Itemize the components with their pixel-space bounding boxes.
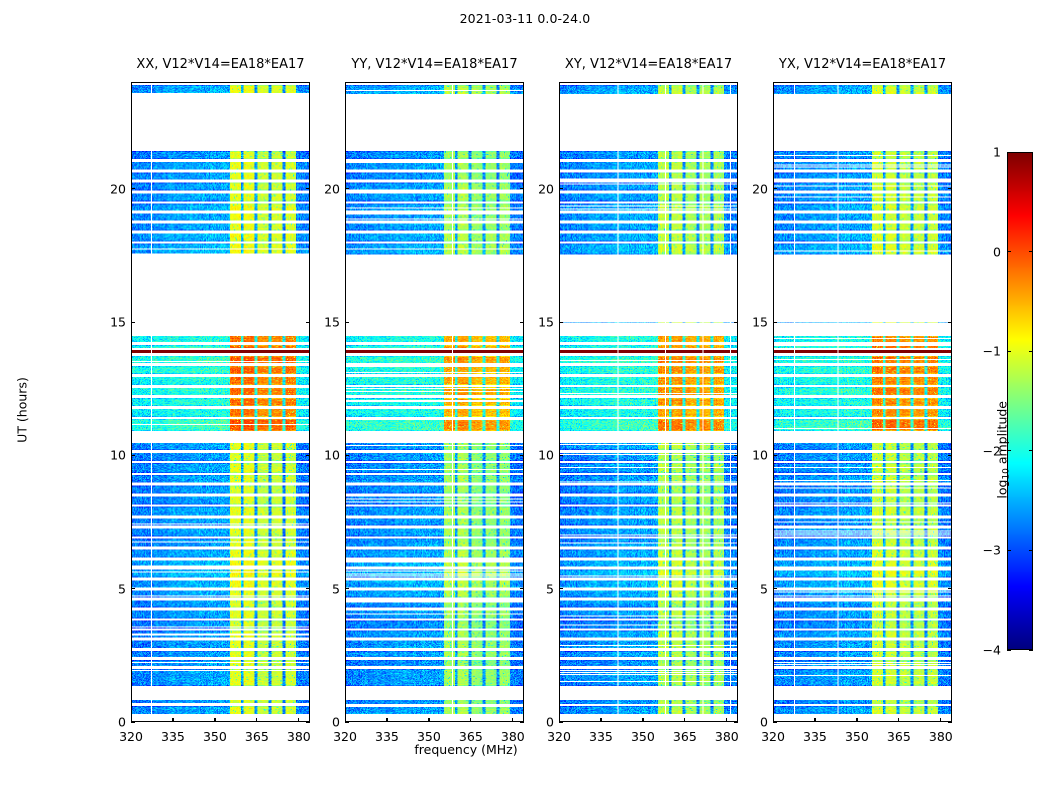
y-tick-mark — [559, 322, 563, 323]
y-tick-mark — [773, 588, 777, 589]
x-tick-label: 380 — [287, 729, 311, 744]
colorbar-tick-mark — [1029, 650, 1033, 651]
y-tick-label: 0 — [332, 715, 340, 730]
y-tick-label: 15 — [752, 315, 768, 330]
colorbar-tick-mark — [1007, 550, 1011, 551]
y-tick-mark — [306, 455, 310, 456]
colorbar-tick-mark — [1029, 351, 1033, 352]
y-tick-label: 0 — [546, 715, 554, 730]
y-tick-mark — [773, 322, 777, 323]
spectrum-panel-xx: XX, V12*V14=EA18*EA170510152032033535036… — [131, 82, 310, 722]
colorbar-tick-mark — [1007, 251, 1011, 252]
x-tick-mark — [256, 718, 257, 722]
colorbar-tick-mark — [1007, 351, 1011, 352]
panel-axes-xy — [559, 82, 738, 722]
y-tick-mark — [948, 322, 952, 323]
y-tick-mark — [131, 588, 135, 589]
x-tick-mark — [428, 718, 429, 722]
x-tick-mark — [559, 718, 560, 722]
x-tick-mark — [726, 718, 727, 722]
x-tick-label: 320 — [761, 729, 785, 744]
x-tick-mark — [470, 718, 471, 722]
y-tick-label: 20 — [110, 181, 126, 196]
panel-title-yx: YX, V12*V14=EA18*EA17 — [779, 57, 946, 72]
x-axis-label: frequency (MHz) — [0, 742, 932, 757]
y-tick-label: 5 — [332, 581, 340, 596]
y-tick-mark — [948, 588, 952, 589]
spectrum-panel-xy: XY, V12*V14=EA18*EA170510152032033535036… — [559, 82, 738, 722]
y-tick-mark — [345, 588, 349, 589]
y-tick-label: 0 — [118, 715, 126, 730]
y-tick-mark — [520, 455, 524, 456]
y-tick-label: 5 — [118, 581, 126, 596]
x-tick-label: 320 — [333, 729, 357, 744]
y-tick-label: 20 — [324, 181, 340, 196]
y-tick-mark — [131, 722, 135, 723]
y-tick-label: 0 — [760, 715, 768, 730]
y-tick-mark — [520, 588, 524, 589]
y-tick-label: 10 — [538, 448, 554, 463]
y-tick-label: 10 — [752, 448, 768, 463]
colorbar-tick-label: 1 — [993, 145, 1001, 160]
y-tick-label: 20 — [752, 181, 768, 196]
x-tick-label: 350 — [845, 729, 869, 744]
panel-axes-xx — [131, 82, 310, 722]
y-tick-label: 15 — [538, 315, 554, 330]
x-tick-mark — [131, 718, 132, 722]
x-tick-mark — [814, 718, 815, 722]
y-tick-mark — [306, 322, 310, 323]
x-tick-label: 380 — [715, 729, 739, 744]
y-tick-mark — [520, 188, 524, 189]
x-tick-label: 335 — [161, 729, 185, 744]
colorbar-tick-label: −3 — [983, 543, 1001, 558]
x-tick-label: 365 — [459, 729, 483, 744]
panel-title-xx: XX, V12*V14=EA18*EA17 — [136, 57, 304, 72]
y-tick-mark — [948, 188, 952, 189]
x-tick-mark — [940, 718, 941, 722]
y-axis-label: UT (hours) — [15, 377, 30, 443]
x-tick-label: 335 — [803, 729, 827, 744]
x-tick-mark — [345, 718, 346, 722]
y-tick-label: 5 — [760, 581, 768, 596]
x-tick-label: 380 — [929, 729, 953, 744]
x-tick-label: 365 — [887, 729, 911, 744]
colorbar-gradient — [1007, 152, 1033, 650]
x-tick-label: 335 — [375, 729, 399, 744]
x-tick-mark — [898, 718, 899, 722]
y-tick-mark — [306, 188, 310, 189]
waterfall-image-xx — [132, 83, 309, 721]
colorbar-tick-mark — [1029, 450, 1033, 451]
y-tick-mark — [734, 188, 738, 189]
x-tick-label: 320 — [119, 729, 143, 744]
y-tick-mark — [734, 722, 738, 723]
colorbar-tick-label: −4 — [983, 643, 1001, 658]
figure-canvas: 2021-03-11 0.0-24.0 UT (hours) frequency… — [0, 0, 1050, 800]
y-tick-mark — [559, 722, 563, 723]
panel-title-xy: XY, V12*V14=EA18*EA17 — [565, 57, 732, 72]
x-tick-mark — [856, 718, 857, 722]
y-tick-mark — [559, 588, 563, 589]
x-tick-label: 350 — [631, 729, 655, 744]
y-tick-mark — [306, 588, 310, 589]
y-tick-mark — [948, 455, 952, 456]
y-tick-mark — [948, 722, 952, 723]
panel-axes-yy — [345, 82, 524, 722]
colorbar-tick-mark — [1007, 650, 1011, 651]
y-tick-mark — [131, 455, 135, 456]
y-tick-mark — [773, 722, 777, 723]
panel-axes-yx — [773, 82, 952, 722]
y-tick-mark — [773, 188, 777, 189]
y-tick-mark — [345, 722, 349, 723]
colorbar: 10−1−2−3−4 — [1007, 152, 1033, 650]
y-tick-label: 10 — [110, 448, 126, 463]
x-tick-mark — [642, 718, 643, 722]
x-tick-label: 365 — [245, 729, 269, 744]
colorbar-label-prefix: log — [995, 480, 1010, 499]
x-tick-label: 350 — [417, 729, 441, 744]
x-tick-mark — [600, 718, 601, 722]
colorbar-label-suffix: amplitude — [995, 401, 1010, 468]
y-tick-label: 10 — [324, 448, 340, 463]
waterfall-image-xy — [560, 83, 737, 721]
y-tick-mark — [559, 188, 563, 189]
colorbar-tick-label: −1 — [983, 344, 1001, 359]
y-tick-mark — [345, 322, 349, 323]
y-tick-mark — [734, 322, 738, 323]
x-tick-label: 350 — [203, 729, 227, 744]
x-tick-label: 335 — [589, 729, 613, 744]
y-tick-mark — [131, 322, 135, 323]
x-tick-mark — [773, 718, 774, 722]
colorbar-label-sub: 10 — [1002, 468, 1012, 479]
x-tick-mark — [214, 718, 215, 722]
x-tick-label: 365 — [673, 729, 697, 744]
y-tick-label: 15 — [110, 315, 126, 330]
y-tick-mark — [345, 455, 349, 456]
x-tick-mark — [684, 718, 685, 722]
y-tick-mark — [306, 722, 310, 723]
waterfall-image-yy — [346, 83, 523, 721]
y-tick-mark — [734, 455, 738, 456]
spectrum-panel-yy: YY, V12*V14=EA18*EA170510152032033535036… — [345, 82, 524, 722]
spectrum-panel-yx: YX, V12*V14=EA18*EA170510152032033535036… — [773, 82, 952, 722]
x-tick-label: 320 — [547, 729, 571, 744]
y-tick-mark — [131, 188, 135, 189]
y-tick-mark — [559, 455, 563, 456]
y-tick-mark — [520, 722, 524, 723]
x-tick-mark — [512, 718, 513, 722]
colorbar-tick-mark — [1029, 550, 1033, 551]
colorbar-label: log10 amplitude — [995, 401, 1010, 499]
colorbar-tick-mark — [1007, 152, 1011, 153]
y-tick-label: 5 — [546, 581, 554, 596]
y-tick-mark — [345, 188, 349, 189]
waterfall-image-yx — [774, 83, 951, 721]
panel-title-yy: YY, V12*V14=EA18*EA17 — [351, 57, 517, 72]
colorbar-tick-label: 0 — [993, 244, 1001, 259]
y-tick-mark — [773, 455, 777, 456]
x-tick-mark — [386, 718, 387, 722]
y-tick-mark — [734, 588, 738, 589]
x-tick-mark — [298, 718, 299, 722]
figure-suptitle: 2021-03-11 0.0-24.0 — [0, 11, 1050, 26]
colorbar-tick-mark — [1029, 251, 1033, 252]
x-tick-label: 380 — [501, 729, 525, 744]
colorbar-tick-mark — [1029, 152, 1033, 153]
y-tick-label: 20 — [538, 181, 554, 196]
x-tick-mark — [172, 718, 173, 722]
y-tick-label: 15 — [324, 315, 340, 330]
y-tick-mark — [520, 322, 524, 323]
